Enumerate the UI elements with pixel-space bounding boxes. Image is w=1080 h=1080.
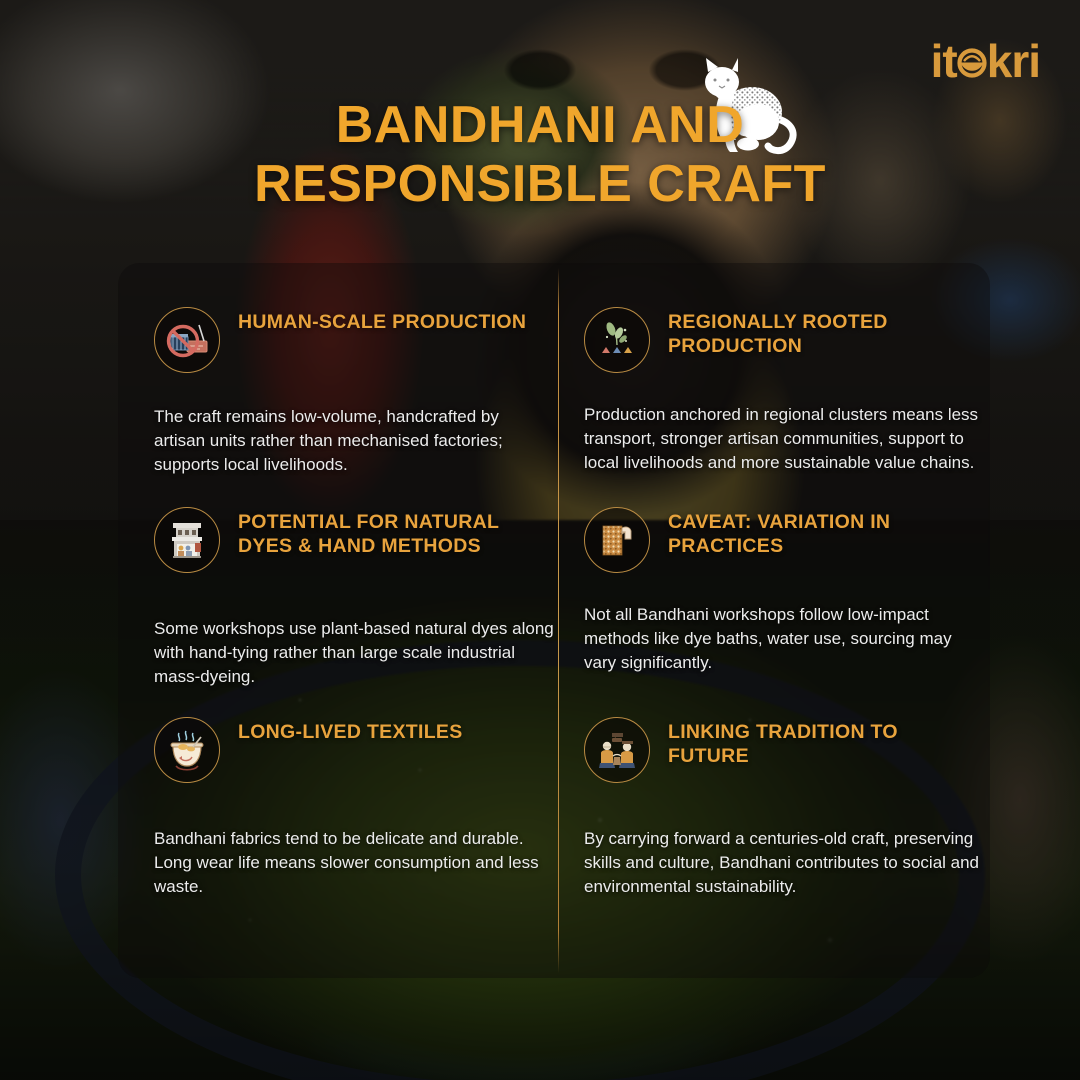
card-title: POTENTIAL FOR NATURAL DYES & HAND METHOD… — [238, 505, 554, 559]
card-body: Production anchored in regional clusters… — [584, 403, 984, 475]
card-regionally-rooted-production: REGIONALLY ROOTED PRODUCTION Production … — [584, 305, 984, 475]
page-title-line-1: BANDHANI AND — [336, 96, 745, 154]
card-body: By carrying forward a centuries-old craf… — [584, 827, 984, 899]
card-body: Not all Bandhani workshops follow low-im… — [584, 603, 984, 675]
content-panel: HUMAN-SCALE PRODUCTION The craft remains… — [118, 263, 990, 978]
card-body: Some workshops use plant-based natural d… — [154, 617, 554, 689]
basket-icon — [957, 44, 987, 78]
cards-grid: HUMAN-SCALE PRODUCTION The craft remains… — [118, 263, 990, 978]
hand-holding-fabric-icon — [584, 507, 650, 573]
card-title: HUMAN-SCALE PRODUCTION — [238, 305, 526, 335]
card-human-scale-production: HUMAN-SCALE PRODUCTION The craft remains… — [154, 305, 554, 477]
card-linking-tradition-to-future: LINKING TRADITION TO FUTURE By carrying … — [584, 715, 984, 899]
no-factory-icon — [154, 307, 220, 373]
workshop-building-icon — [154, 507, 220, 573]
logo-text-kri: kri — [987, 38, 1040, 84]
card-title: LONG-LIVED TEXTILES — [238, 715, 463, 745]
card-header: REGIONALLY ROOTED PRODUCTION — [584, 305, 984, 373]
plant-sprout-icon — [584, 307, 650, 373]
logo-text-it: it — [931, 38, 957, 84]
brand-logo[interactable]: it kri — [931, 38, 1040, 84]
card-caveat-variation-in-practices: CAVEAT: VARIATION IN PRACTICES Not all B… — [584, 505, 984, 675]
card-body: Bandhani fabrics tend to be delicate and… — [154, 827, 554, 899]
two-artisans-icon — [584, 717, 650, 783]
page-title-line-2: RESPONSIBLE CRAFT — [0, 155, 1080, 214]
card-title: CAVEAT: VARIATION IN PRACTICES — [668, 505, 984, 559]
card-natural-dyes-hand-methods: POTENTIAL FOR NATURAL DYES & HAND METHOD… — [154, 505, 554, 689]
card-header: HUMAN-SCALE PRODUCTION — [154, 305, 554, 373]
card-body: The craft remains low-volume, handcrafte… — [154, 405, 554, 477]
header: it kri — [0, 0, 1080, 263]
page-title: BANDHANI AND RESPONSIBLE CRAFT — [0, 96, 1080, 215]
card-header: LONG-LIVED TEXTILES — [154, 715, 554, 783]
card-title: LINKING TRADITION TO FUTURE — [668, 715, 984, 769]
dye-pot-icon — [154, 717, 220, 783]
card-long-lived-textiles: LONG-LIVED TEXTILES Bandhani fabrics ten… — [154, 715, 554, 899]
card-header: CAVEAT: VARIATION IN PRACTICES — [584, 505, 984, 573]
card-header: LINKING TRADITION TO FUTURE — [584, 715, 984, 783]
card-header: POTENTIAL FOR NATURAL DYES & HAND METHOD… — [154, 505, 554, 573]
card-title: REGIONALLY ROOTED PRODUCTION — [668, 305, 984, 359]
